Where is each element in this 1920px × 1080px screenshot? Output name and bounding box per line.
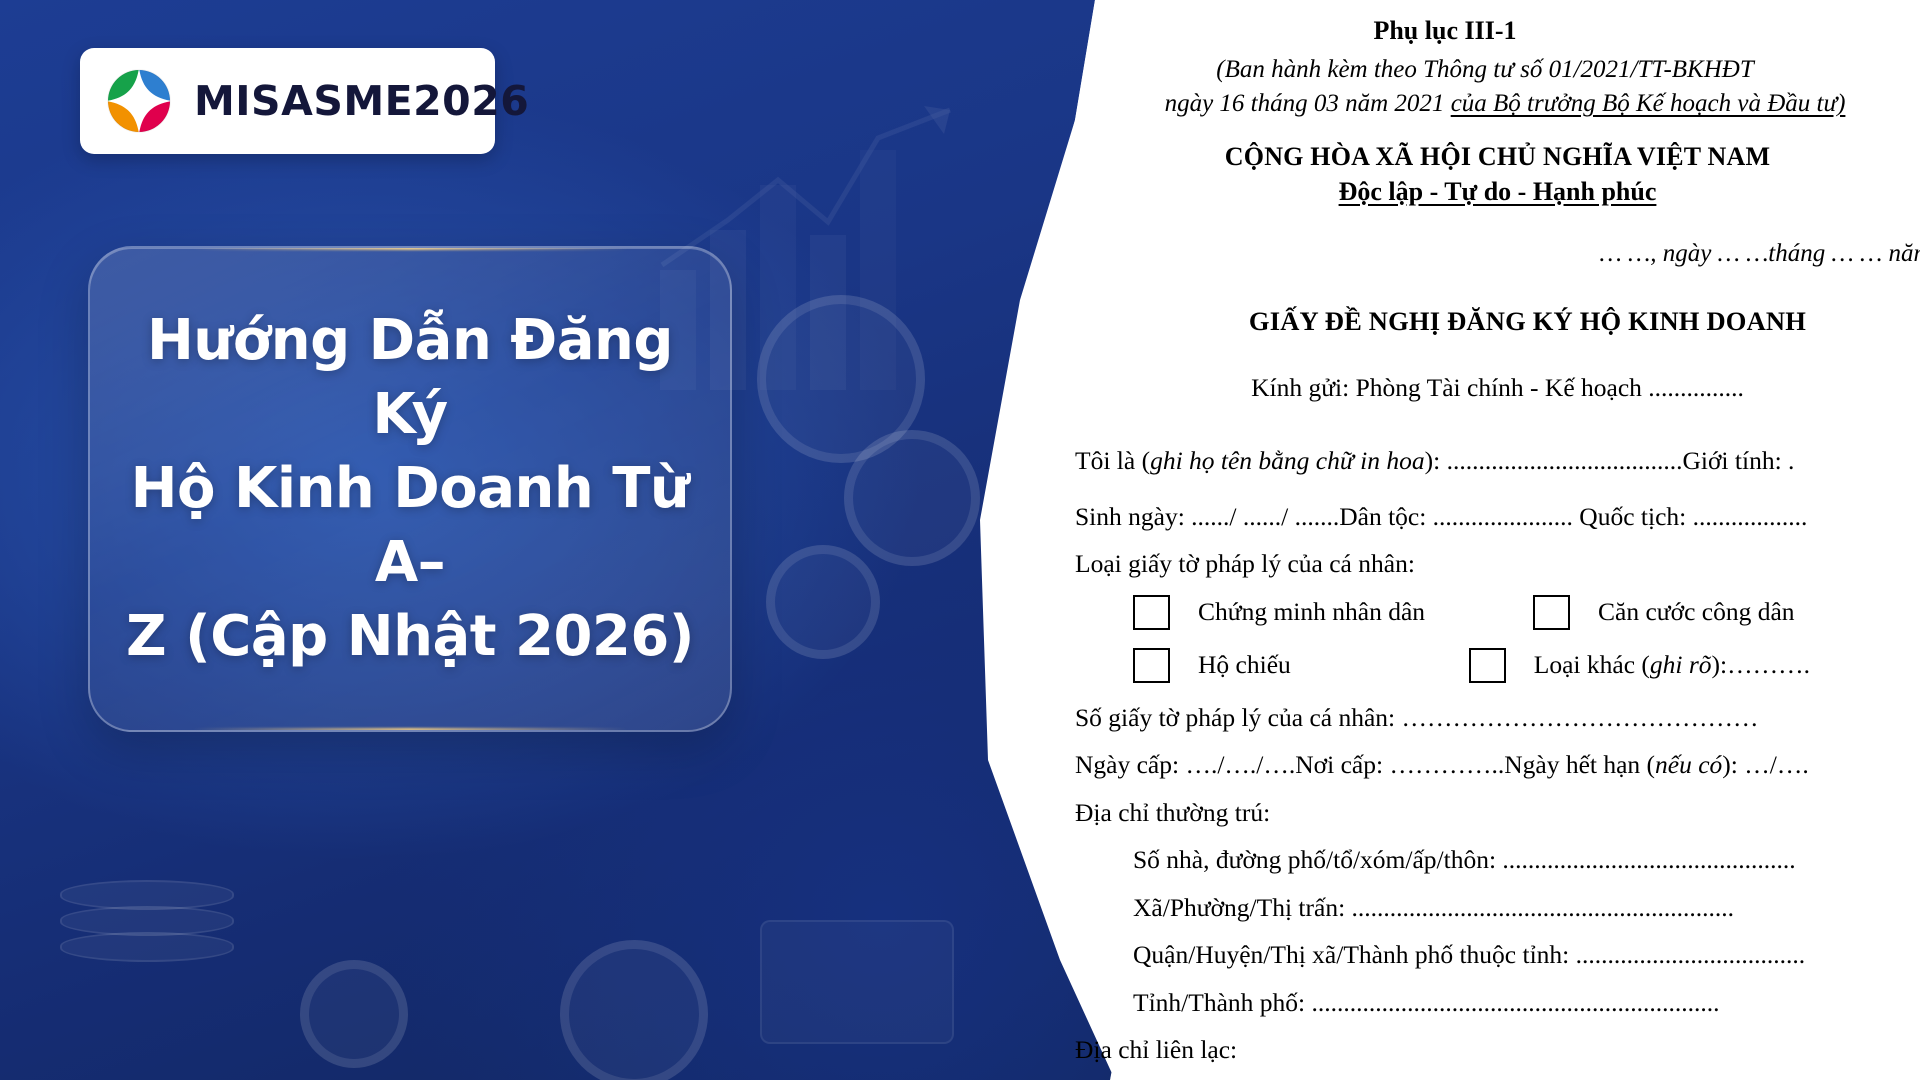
- field-province: Tỉnh/Thành phố: ........................…: [1133, 990, 1920, 1016]
- hero-glass-card: Hướng Dẫn Đăng Ký Hộ Kinh Doanh Từ A– Z …: [88, 246, 732, 732]
- field-full-name-gender: Tôi là (ghi họ tên bằng chữ in hoa): ...…: [1075, 448, 1920, 474]
- coin-decoration-icon: [766, 545, 880, 659]
- hero-title-line-3: Z (Cập Nhật 2026): [112, 600, 708, 674]
- coin-decoration-icon: [300, 960, 408, 1068]
- checkbox-other-label: Loại khác (ghi rõ):……….: [1534, 652, 1810, 678]
- field-district: Quận/Huyện/Thị xã/Thành phố thuộc tỉnh: …: [1133, 942, 1920, 968]
- checkbox-cccd-label: Căn cước công dân: [1598, 599, 1795, 625]
- brand-logo-badge: MISASME2026: [80, 48, 495, 154]
- field-house-number-street: Số nhà, đường phố/tổ/xóm/ấp/thôn: ......…: [1133, 847, 1920, 873]
- national-motto-text: Độc lập - Tự do - Hạnh phúc: [1339, 177, 1657, 206]
- checkbox-cmnd[interactable]: [1133, 595, 1170, 630]
- checkbox-cccd[interactable]: [1533, 595, 1570, 630]
- coin-stack-decoration-icon: [60, 932, 234, 962]
- field-legal-document-type-label: Loại giấy tờ pháp lý của cá nhân:: [1075, 551, 1920, 577]
- issued-line-2: ngày 16 tháng 03 năm 2021 của Bộ trưởng …: [1075, 91, 1920, 116]
- checkbox-row-2: Hộ chiếu Loại khác (ghi rõ):……….: [1133, 648, 1920, 683]
- issued-line-2-b: của Bộ trưởng Bộ Kế hoạch và Đầu tư): [1451, 90, 1846, 117]
- checkbox-passport-label: Hộ chiếu: [1198, 652, 1291, 678]
- coin-decoration-icon: [560, 940, 708, 1080]
- coin-decoration-icon: [757, 295, 925, 463]
- document-preview: Phụ lục III-1 (Ban hành kèm theo Thông t…: [1075, 0, 1920, 1080]
- field-contact-address-label: Địa chỉ liên lạc:: [1075, 1037, 1920, 1063]
- hero-title-line-1: Hướng Dẫn Đăng Ký: [112, 304, 708, 452]
- date-placeholder-line: … …, ngày … …tháng … … năm …: [1075, 241, 1920, 266]
- document-title: GIẤY ĐỀ NGHỊ ĐĂNG KÝ HỘ KINH DOANH: [1075, 308, 1920, 335]
- brand-logo-text: MISASME2026: [194, 77, 529, 125]
- hero-title: Hướng Dẫn Đăng Ký Hộ Kinh Doanh Từ A– Z …: [90, 304, 730, 674]
- checkbox-passport[interactable]: [1133, 648, 1170, 683]
- calculator-decoration-icon: [760, 920, 954, 1044]
- national-motto: Độc lập - Tự do - Hạnh phúc: [1075, 179, 1920, 205]
- addressee-line: Kính gửi: Phòng Tài chính - Kế hoạch ...…: [1075, 375, 1920, 401]
- screenshot-root: MISASME2026 Hướng Dẫn Đăng Ký Hộ Kinh Do…: [0, 0, 1920, 1080]
- checkbox-row-1: Chứng minh nhân dân Căn cước công dân: [1133, 595, 1920, 630]
- field-birthdate-ethnicity-nationality: Sinh ngày: ....../ ....../ .......Dân tộ…: [1075, 504, 1920, 530]
- checkbox-cmnd-label: Chứng minh nhân dân: [1198, 599, 1425, 625]
- checkbox-cccd-group: Căn cước công dân: [1533, 595, 1795, 630]
- checkbox-other[interactable]: [1469, 648, 1506, 683]
- issued-line-2-a: ngày 16 tháng 03 năm 2021: [1165, 90, 1451, 117]
- misa-four-color-circle-icon: [106, 68, 172, 134]
- field-permanent-address-label: Địa chỉ thường trú:: [1075, 800, 1920, 826]
- checkbox-other-group: Loại khác (ghi rõ):……….: [1469, 648, 1810, 683]
- issued-line-1: (Ban hành kèm theo Thông tư số 01/2021/T…: [1075, 57, 1895, 82]
- coin-decoration-icon: [844, 430, 980, 566]
- field-legal-document-number: Số giấy tờ pháp lý của cá nhân: ………………………: [1075, 705, 1920, 731]
- field-ward-commune: Xã/Phường/Thị trấn: ....................…: [1133, 895, 1920, 921]
- country-name: CỘNG HÒA XÃ HỘI CHỦ NGHĨA VIỆT NAM: [1075, 144, 1920, 170]
- appendix-heading: Phụ lục III-1: [1075, 18, 1815, 44]
- field-issue-date-place: Ngày cấp: …./…./….Nơi cấp: …………..Ngày hế…: [1075, 752, 1920, 778]
- hero-title-line-2: Hộ Kinh Doanh Từ A–: [112, 452, 708, 600]
